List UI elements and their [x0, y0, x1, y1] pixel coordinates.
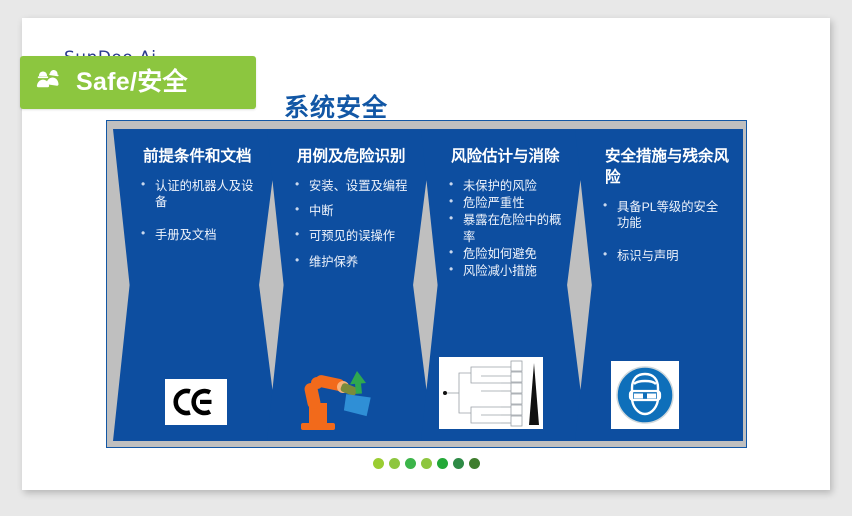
chevron-panel-4: 安全措施与残余风险 具备PL等级的安全功能 标识与声明 [575, 129, 743, 441]
chevron-panel-2-title: 用例及危险识别 [283, 147, 423, 168]
chevron-panel-3-bullets: 未保护的风险 危险严重性 暴露在危险中的概率 危险如何避免 风险减小措施 [437, 178, 577, 279]
list-item: 暴露在危险中的概率 [447, 212, 573, 244]
list-item: 手册及文档 [139, 227, 265, 243]
safe-badge-label: Safe/安全 [76, 70, 188, 95]
chevron-panel-2-bullets: 安装、设置及编程 中断 可预见的误操作 维护保养 [283, 178, 423, 270]
list-item: 认证的机器人及设备 [139, 178, 265, 210]
list-item: 中断 [293, 203, 419, 219]
dot-6[interactable] [453, 458, 464, 469]
robot-arm-icon [289, 359, 381, 433]
list-item: 风险减小措施 [447, 263, 573, 279]
chevron-panel-1-bullets: 认证的机器人及设备 手册及文档 [129, 178, 269, 244]
list-item: 未保护的风险 [447, 178, 573, 194]
ce-mark-icon [165, 379, 227, 425]
chevron-panel-4-title: 安全措施与残余风险 [591, 147, 733, 189]
chevron-panel-3-title: 风险估计与消除 [437, 147, 577, 168]
list-item: 可预见的误操作 [293, 228, 419, 244]
list-item: 具备PL等级的安全功能 [601, 199, 729, 231]
dot-7[interactable] [469, 458, 480, 469]
dot-4[interactable] [421, 458, 432, 469]
dot-1[interactable] [373, 458, 384, 469]
chevron-panel-3: 风险估计与消除 未保护的风险 危险严重性 暴露在危险中的概率 危险如何避免 风险… [421, 129, 587, 441]
dot-2[interactable] [389, 458, 400, 469]
chevron-panel-1-title: 前提条件和文档 [129, 147, 269, 168]
dot-5[interactable] [437, 458, 448, 469]
chevron-panel-1: 前提条件和文档 认证的机器人及设备 手册及文档 [113, 129, 279, 441]
page-title: 系统安全 [284, 88, 388, 124]
pagination-dots[interactable] [0, 458, 852, 469]
process-chevron-container: 前提条件和文档 认证的机器人及设备 手册及文档 用例及危险识别 安装、设置及编程… [106, 120, 747, 448]
list-item: 维护保养 [293, 254, 419, 270]
two-workers-hardhat-icon [20, 66, 76, 100]
chevron-panel-2: 用例及危险识别 安装、设置及编程 中断 可预见的误操作 维护保养 [267, 129, 433, 441]
risk-graph-icon [439, 357, 543, 429]
list-item: 危险如何避免 [447, 246, 573, 262]
list-item: 安装、设置及编程 [293, 178, 419, 194]
chevron-panel-4-bullets: 具备PL等级的安全功能 标识与声明 [591, 199, 733, 265]
safe-badge: Safe/安全 [20, 56, 256, 109]
list-item: 危险严重性 [447, 195, 573, 211]
dot-3[interactable] [405, 458, 416, 469]
safety-goggles-sign-icon [611, 361, 679, 429]
list-item: 标识与声明 [601, 248, 729, 264]
